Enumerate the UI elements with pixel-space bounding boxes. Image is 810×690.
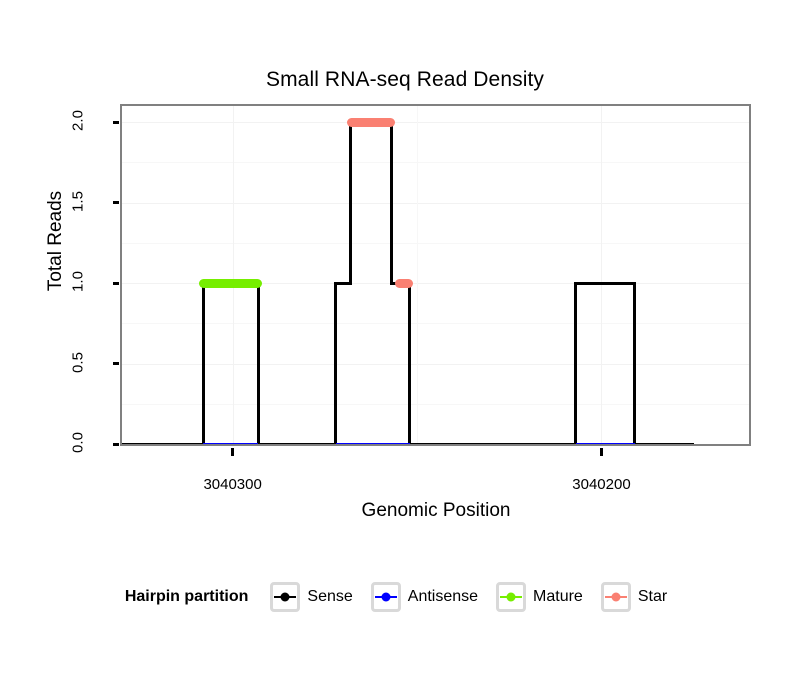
series-segment-sense	[410, 443, 576, 445]
series-segment-antisense	[203, 443, 258, 445]
legend-key-star-icon	[601, 582, 631, 612]
gridline-horizontal-minor	[122, 243, 749, 244]
gridline-vertical	[601, 106, 602, 444]
series-riser-sense	[202, 282, 205, 444]
legend-label: Mature	[533, 588, 583, 606]
x-axis-tick-mark	[231, 448, 234, 456]
gridline-horizontal	[122, 203, 749, 204]
chart-title: Small RNA-seq Read Density	[0, 68, 810, 92]
series-segment-antisense	[336, 443, 410, 445]
legend-label: Star	[638, 588, 667, 606]
series-segment-antisense	[576, 443, 635, 445]
legend-key-dot	[381, 593, 390, 602]
legend-key-dot	[281, 593, 290, 602]
series-segment-sense	[576, 282, 635, 285]
legend-label: Antisense	[408, 588, 478, 606]
y-axis-title: Total Reads	[45, 141, 67, 341]
series-riser-sense	[257, 282, 260, 444]
y-axis-tick-mark	[113, 362, 119, 365]
series-segment-star	[347, 118, 395, 127]
series-segment-sense	[258, 443, 335, 445]
chart-container: Small RNA-seq Read Density Total Reads G…	[0, 0, 810, 690]
series-riser-sense	[349, 121, 352, 285]
series-segment-sense	[635, 443, 694, 445]
legend-title: Hairpin partition	[125, 588, 249, 606]
gridline-vertical	[233, 106, 234, 444]
legend-key-antisense-icon	[371, 582, 401, 612]
legend: Hairpin partition SenseAntisenseMatureSt…	[0, 578, 810, 616]
legend-key-mature-icon	[496, 582, 526, 612]
y-axis-tick-mark	[113, 443, 119, 446]
plot-area	[122, 106, 749, 444]
x-axis-tick-mark	[600, 448, 603, 456]
y-axis-tick-mark	[113, 282, 119, 285]
gridline-horizontal-minor	[122, 404, 749, 405]
gridline-horizontal	[122, 122, 749, 123]
y-axis-tick-label: 0.0	[70, 413, 87, 473]
legend-items: SenseAntisenseMatureStar	[270, 582, 685, 612]
gridline-horizontal-minor	[122, 323, 749, 324]
y-axis-tick-label: 2.0	[70, 91, 87, 151]
legend-key-dot	[611, 593, 620, 602]
legend-item-antisense[interactable]: Antisense	[371, 582, 490, 612]
legend-item-sense[interactable]: Sense	[270, 582, 364, 612]
series-segment-star	[395, 279, 413, 288]
y-axis-tick-label: 0.5	[70, 332, 87, 392]
y-axis-tick-label: 1.5	[70, 171, 87, 231]
series-riser-sense	[574, 282, 577, 444]
y-axis-tick-mark	[113, 121, 119, 124]
x-axis-title: Genomic Position	[120, 500, 752, 522]
series-riser-sense	[408, 282, 411, 444]
legend-item-star[interactable]: Star	[601, 582, 679, 612]
legend-key-sense-icon	[270, 582, 300, 612]
legend-label: Sense	[307, 588, 352, 606]
y-axis-tick-label: 1.0	[70, 252, 87, 312]
series-segment-sense	[122, 443, 203, 445]
legend-item-mature[interactable]: Mature	[496, 582, 595, 612]
x-axis-tick-label: 3040200	[531, 476, 671, 493]
series-segment-mature	[199, 279, 262, 288]
legend-key-dot	[507, 593, 516, 602]
gridline-horizontal	[122, 364, 749, 365]
gridline-vertical-minor	[417, 106, 418, 444]
x-axis-tick-label: 3040300	[163, 476, 303, 493]
series-riser-sense	[334, 282, 337, 444]
y-axis-tick-mark	[113, 201, 119, 204]
series-riser-sense	[390, 121, 393, 285]
plot-panel	[120, 104, 751, 446]
series-riser-sense	[633, 282, 636, 444]
gridline-horizontal-minor	[122, 162, 749, 163]
